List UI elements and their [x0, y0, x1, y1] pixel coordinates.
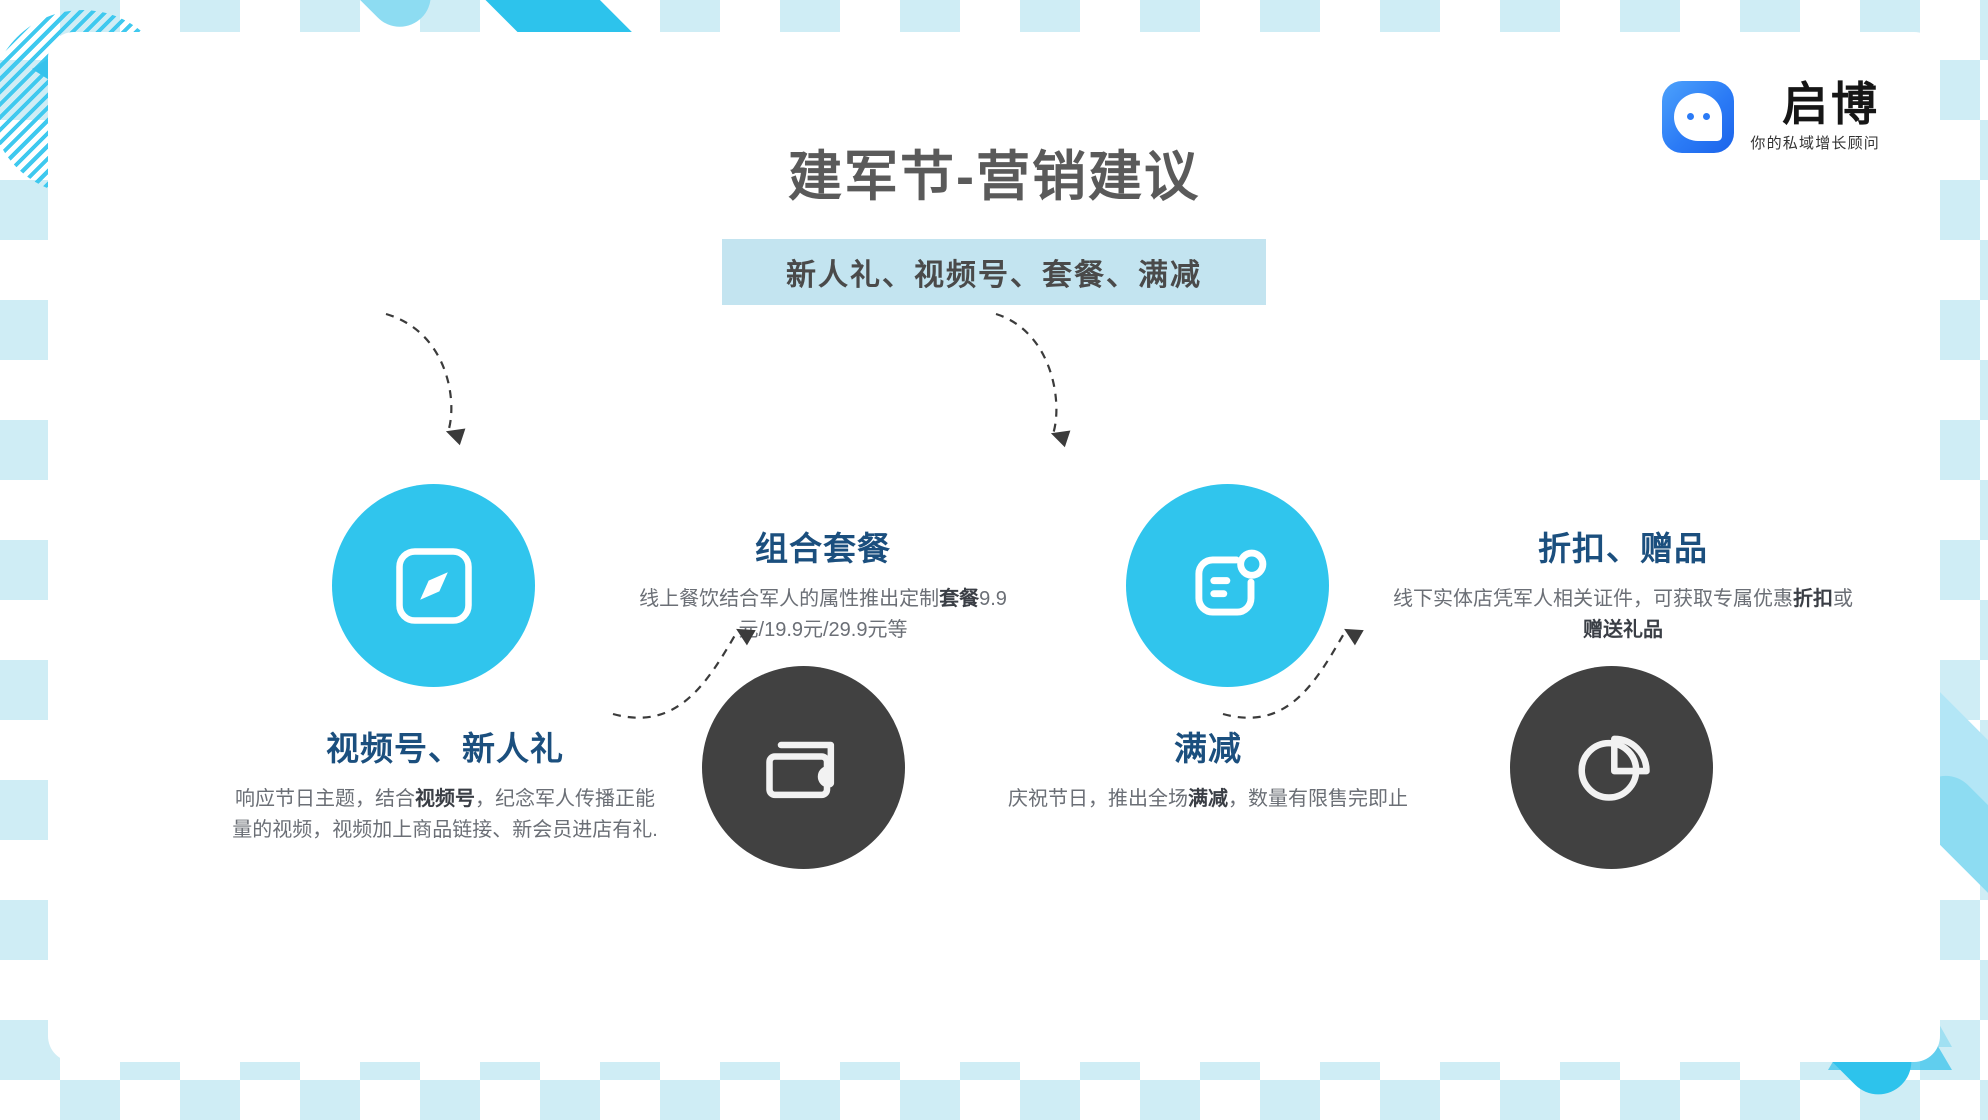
block-body: 响应节日主题，结合视频号，纪念军人传播正能量的视频，视频加上商品链接、新会员进店… — [230, 784, 660, 846]
icon-circle-discount-gift[interactable] — [1510, 666, 1713, 869]
content-block-video-channel: 视频号、新人礼 响应节日主题，结合视频号，纪念军人传播正能量的视频，视频加上商品… — [230, 722, 660, 846]
slide-card: 启博 你的私域增长顾问 建军节-营销建议 新人礼、视频号、套餐、满减 — [48, 32, 1940, 1062]
content-block-discount-gift: 折扣、赠品 线下实体店凭军人相关证件，可获取专属优惠折扣或赠送礼品 — [1393, 522, 1853, 646]
content-block-full-reduction: 满减 庆祝节日，推出全场满减，数量有限售完即止 — [1008, 722, 1408, 815]
connector-1 — [386, 314, 451, 432]
icon-circle-video-channel[interactable] — [332, 484, 535, 687]
subtitle-banner: 新人礼、视频号、套餐、满减 — [722, 239, 1266, 305]
content-block-combo-package: 组合套餐 线上餐饮结合军人的属性推出定制套餐9.9元/19.9元/29.9元等 — [613, 522, 1033, 646]
block-title: 折扣、赠品 — [1393, 522, 1853, 570]
block-title: 组合套餐 — [613, 522, 1033, 570]
block-body: 庆祝节日，推出全场满减，数量有限售完即止 — [1008, 784, 1408, 815]
connector-3 — [996, 314, 1056, 434]
header: 建军节-营销建议 新人礼、视频号、套餐、满减 — [48, 132, 1940, 305]
icon-circle-full-reduction[interactable] — [1126, 484, 1329, 687]
wallet-icon — [758, 722, 850, 814]
icon-circle-combo-package[interactable] — [702, 666, 905, 869]
pie-chart-icon — [1566, 722, 1658, 814]
page-title: 建军节-营销建议 — [48, 132, 1940, 211]
block-body: 线下实体店凭军人相关证件，可获取专属优惠折扣或赠送礼品 — [1393, 584, 1853, 646]
card-notification-icon — [1182, 540, 1274, 632]
block-title: 视频号、新人礼 — [230, 722, 660, 770]
logo-name: 启博 — [1782, 80, 1880, 128]
block-body: 线上餐饮结合军人的属性推出定制套餐9.9元/19.9元/29.9元等 — [613, 584, 1033, 646]
compass-in-square-icon — [388, 540, 480, 632]
block-title: 满减 — [1008, 722, 1408, 770]
